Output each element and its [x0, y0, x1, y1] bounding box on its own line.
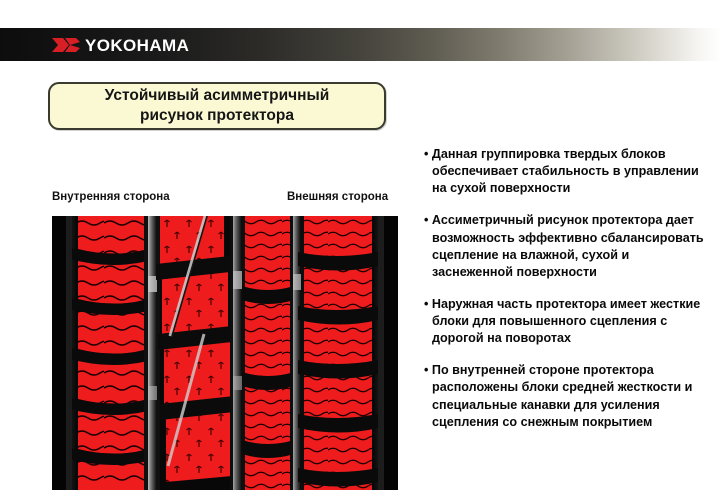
bullet-item: • Данная группировка твердых блоков обес… [424, 146, 710, 197]
tread-rib-inner [70, 216, 148, 490]
slide-title-box: Устойчивый асимметричный рисунок протект… [48, 82, 386, 130]
bullet-item: • Наружная часть протектора имеет жестки… [424, 296, 710, 347]
feature-bullet-list: • Данная группировка твердых блоков обес… [424, 146, 710, 431]
label-inner-side: Внутренняя сторона [52, 191, 170, 203]
tire-tread-image [52, 216, 398, 490]
yokohama-logo: YOKOHAMA [52, 33, 189, 57]
bullet-item: • По внутренней стороне протектора распо… [424, 362, 710, 431]
brand-name: YOKOHAMA [85, 37, 189, 54]
tread-rib-outer [298, 216, 378, 490]
tire-tread-graphic [52, 216, 398, 490]
tread-rib-center-left [156, 216, 234, 482]
tread-rib-center-right [242, 216, 294, 490]
yokohama-chevron-icon [52, 36, 80, 54]
bullet-item: • Ассиметричный рисунок протектора дает … [424, 212, 710, 281]
label-outer-side: Внешняя сторона [287, 191, 388, 203]
page-title: Устойчивый асимметричный рисунок протект… [97, 86, 338, 126]
